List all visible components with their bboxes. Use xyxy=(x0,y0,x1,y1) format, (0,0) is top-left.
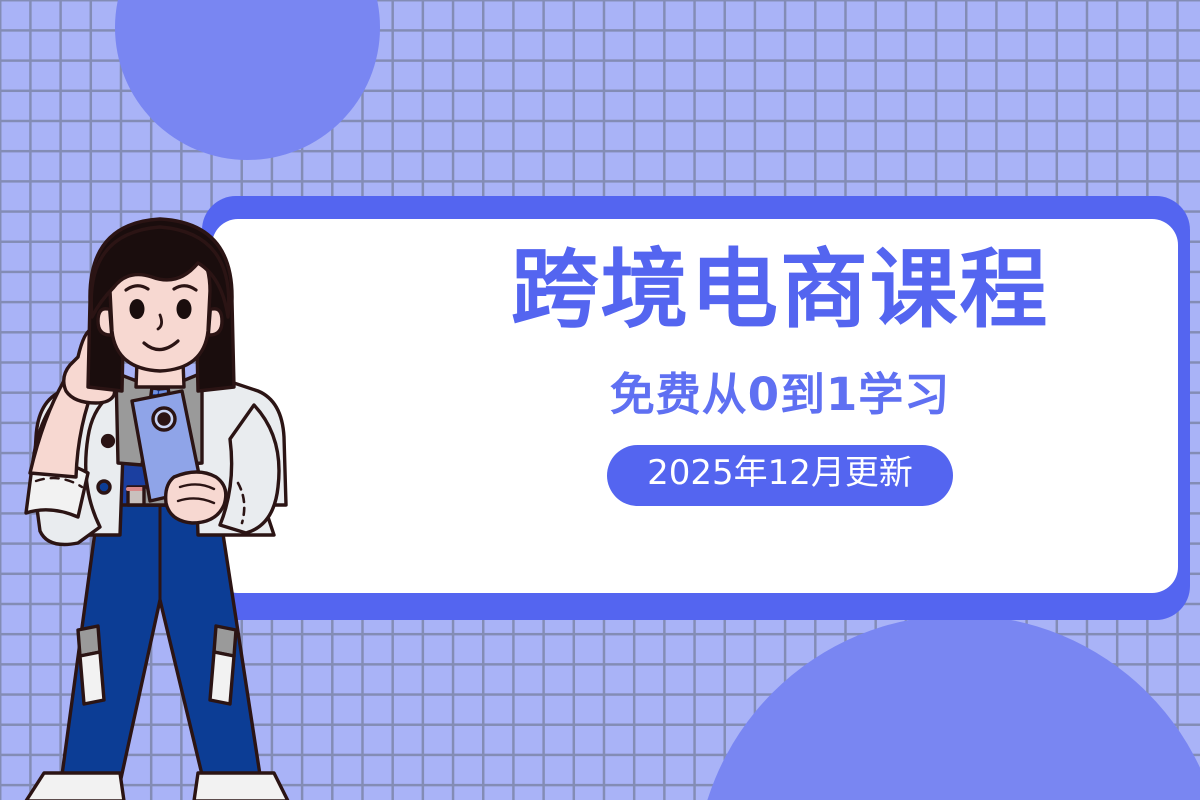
shoe-left xyxy=(26,773,124,800)
woman-with-phone-illustration xyxy=(0,205,322,800)
eye-left xyxy=(130,299,145,319)
eye-right xyxy=(177,299,192,319)
page-title: 跨境电商课程 xyxy=(511,245,1050,336)
jacket-button-lower xyxy=(98,481,110,493)
update-badge: 2025年12月更新 xyxy=(607,445,953,506)
ear-right xyxy=(210,309,222,335)
poster-canvas: 跨境电商课程 免费从0到1学习 2025年12月更新 xyxy=(0,0,1200,800)
page-subtitle: 免费从0到1学习 xyxy=(610,358,951,423)
card-content: 跨境电商课程 免费从0到1学习 2025年12月更新 xyxy=(212,219,1178,593)
jacket-button-upper xyxy=(103,436,114,447)
ear-left xyxy=(98,309,110,335)
shoe-right xyxy=(194,773,288,800)
